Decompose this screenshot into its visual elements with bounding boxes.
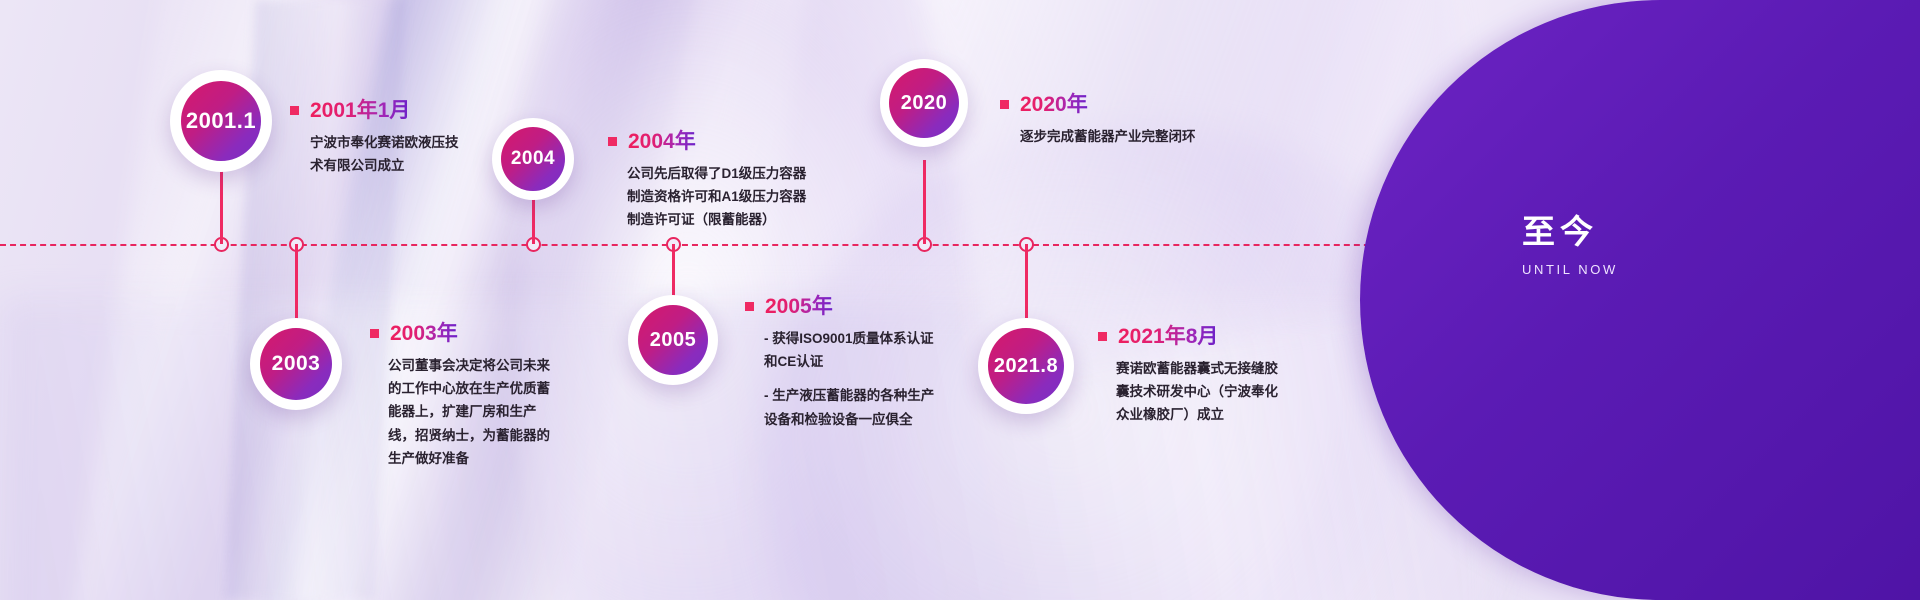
background-swirl-1: [59, 0, 821, 600]
entry-body-line: 宁波市奉化赛诺欧液压技术有限公司成立: [310, 131, 470, 177]
bullet-square-icon: [745, 302, 754, 311]
entry-body-line: 公司先后取得了D1级压力容器制造资格许可和A1级压力容器制造许可证（限蓄能器）: [627, 162, 808, 232]
timeline-node-2021-8[interactable]: 2021.8: [978, 318, 1074, 414]
until-now-title-cn: 至今: [1522, 212, 1618, 252]
entry-title: 2001年1月: [310, 94, 410, 124]
entry-heading: 2004年: [608, 125, 808, 155]
timeline-node-2003[interactable]: 2003: [250, 318, 342, 410]
entry-title: 2020年: [1020, 88, 1088, 118]
entry-body-line: 逐步完成蓄能器产业完整闭环: [1020, 125, 1230, 148]
until-now-title-en: UNTIL NOW: [1522, 262, 1618, 277]
bullet-square-icon: [608, 137, 617, 146]
stem-2004: [532, 198, 535, 244]
timeline-node-2020[interactable]: 2020: [880, 59, 968, 147]
stem-2003: [295, 244, 298, 320]
timeline-node-label: 2005: [638, 305, 708, 375]
entry-body: 宁波市奉化赛诺欧液压技术有限公司成立: [290, 131, 470, 177]
entry-body: 赛诺欧蓄能器囊式无接缝胶囊技术研发中心（宁波奉化众业橡胶厂）成立: [1098, 357, 1278, 427]
timeline-entry-2020: 2020年 逐步完成蓄能器产业完整闭环: [1000, 88, 1230, 148]
timeline-entry-2021-8: 2021年8月 赛诺欧蓄能器囊式无接缝胶囊技术研发中心（宁波奉化众业橡胶厂）成立: [1098, 320, 1278, 427]
until-now-content: 至今 UNTIL NOW: [1522, 212, 1618, 277]
entry-title: 2004年: [628, 125, 696, 155]
timeline-node-label: 2004: [501, 127, 565, 191]
entry-heading: 2005年: [745, 290, 940, 320]
bullet-square-icon: [1098, 332, 1107, 341]
entry-heading: 2021年8月: [1098, 320, 1278, 350]
stem-2001-1: [220, 170, 223, 244]
timeline-entry-2003: 2003年 公司董事会决定将公司未来的工作中心放在生产优质蓄能器上，扩建厂房和生…: [370, 317, 560, 470]
timeline-node-2004[interactable]: 2004: [492, 118, 574, 200]
entry-body-line: - 生产液压蓄能器的各种生产设备和检验设备一应俱全: [764, 384, 940, 430]
entry-body: 公司先后取得了D1级压力容器制造资格许可和A1级压力容器制造许可证（限蓄能器）: [608, 162, 808, 232]
timeline-entry-2001-1: 2001年1月 宁波市奉化赛诺欧液压技术有限公司成立: [290, 94, 470, 177]
stem-2005: [672, 244, 675, 296]
timeline-node-label: 2003: [260, 328, 332, 400]
entry-heading: 2020年: [1000, 88, 1230, 118]
timeline-infographic: 2001.1 2003 2004 2005 2020 2021.8 2001年1…: [0, 0, 1920, 600]
timeline-node-2001-1[interactable]: 2001.1: [170, 70, 272, 172]
timeline-entry-2004: 2004年 公司先后取得了D1级压力容器制造资格许可和A1级压力容器制造许可证（…: [608, 125, 808, 232]
entry-body-line: 赛诺欧蓄能器囊式无接缝胶囊技术研发中心（宁波奉化众业橡胶厂）成立: [1116, 357, 1278, 427]
entry-title: 2005年: [765, 290, 833, 320]
entry-title: 2021年8月: [1118, 320, 1218, 350]
timeline-node-label: 2021.8: [988, 328, 1064, 404]
entry-heading: 2003年: [370, 317, 560, 347]
timeline-node-2005[interactable]: 2005: [628, 295, 718, 385]
stem-2021-8: [1025, 244, 1028, 318]
bullet-square-icon: [370, 329, 379, 338]
entry-body: 公司董事会决定将公司未来的工作中心放在生产优质蓄能器上，扩建厂房和生产线，招贤纳…: [370, 354, 560, 470]
bullet-square-icon: [1000, 100, 1009, 109]
entry-heading: 2001年1月: [290, 94, 470, 124]
timeline-entry-2005: 2005年 - 获得ISO9001质量体系认证和CE认证 - 生产液压蓄能器的各…: [745, 290, 940, 431]
until-now-panel: 至今 UNTIL NOW: [1360, 0, 1920, 600]
timeline-node-label: 2001.1: [181, 81, 261, 161]
timeline-axis: [0, 244, 1410, 246]
entry-body-line: - 获得ISO9001质量体系认证和CE认证: [764, 327, 940, 373]
entry-body: - 获得ISO9001质量体系认证和CE认证 - 生产液压蓄能器的各种生产设备和…: [745, 327, 940, 431]
entry-title: 2003年: [390, 317, 458, 347]
stem-2020: [923, 160, 926, 244]
bullet-square-icon: [290, 106, 299, 115]
background-swirl-2: [243, 0, 717, 600]
timeline-node-label: 2020: [889, 68, 959, 138]
entry-body-line: 公司董事会决定将公司未来的工作中心放在生产优质蓄能器上，扩建厂房和生产线，招贤纳…: [388, 354, 560, 470]
entry-body: 逐步完成蓄能器产业完整闭环: [1000, 125, 1230, 148]
